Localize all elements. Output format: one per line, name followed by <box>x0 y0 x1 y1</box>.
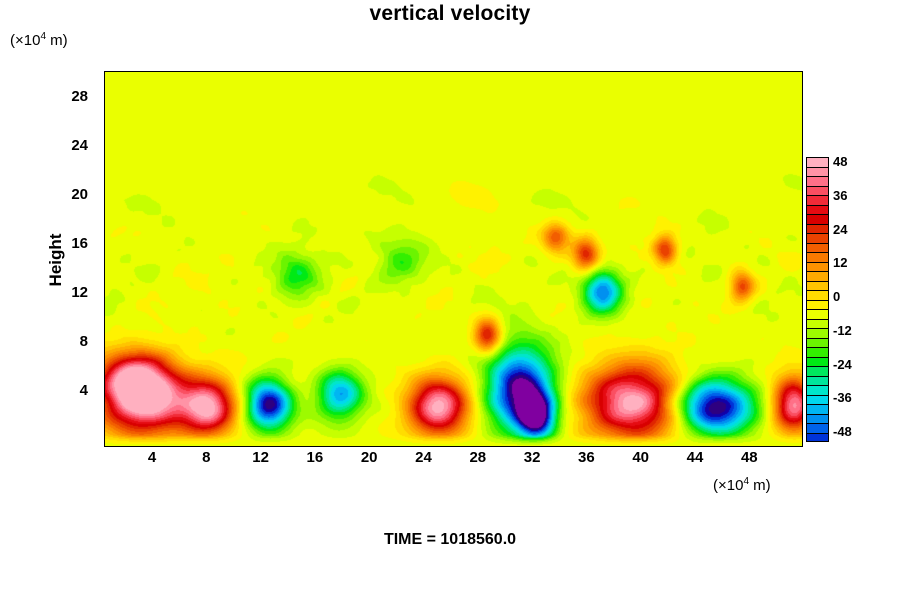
colorbar-band <box>807 348 828 358</box>
x-tick-4: 4 <box>132 449 172 466</box>
y-tick-4: 4 <box>48 382 88 399</box>
y-axis-unit-label: (×104 m) <box>10 31 68 49</box>
colorbar-label-0: 0 <box>833 289 879 304</box>
colorbar-label-24: 24 <box>833 222 879 237</box>
x-tick-32: 32 <box>512 449 552 466</box>
colorbar-band <box>807 434 828 443</box>
y-unit-prefix: (×10 <box>10 32 40 49</box>
colorbar-label-12: 12 <box>833 255 879 270</box>
colorbar-label-48: 48 <box>833 154 879 169</box>
y-unit-suffix: m) <box>46 32 68 49</box>
y-tick-28: 28 <box>48 88 88 105</box>
colorbar-band <box>807 415 828 425</box>
y-axis-title: Height <box>46 200 66 320</box>
x-tick-20: 20 <box>349 449 389 466</box>
colorbar-band <box>807 272 828 282</box>
x-tick-44: 44 <box>675 449 715 466</box>
x-tick-40: 40 <box>621 449 661 466</box>
x-tick-24: 24 <box>404 449 444 466</box>
colorbar-band <box>807 339 828 349</box>
colorbar-band <box>807 206 828 216</box>
colorbar-label-neg36: -36 <box>833 390 879 405</box>
colorbar-band <box>807 215 828 225</box>
colorbar-band <box>807 301 828 311</box>
colorbar-band <box>807 291 828 301</box>
x-tick-12: 12 <box>241 449 281 466</box>
colorbar-label-neg48: -48 <box>833 424 879 439</box>
colorbar-band <box>807 234 828 244</box>
colorbar <box>806 157 829 442</box>
colorbar-band <box>807 358 828 368</box>
x-tick-28: 28 <box>458 449 498 466</box>
x-unit-suffix: m) <box>749 477 771 494</box>
x-axis-unit-label: (×104 m) <box>713 476 771 494</box>
x-tick-16: 16 <box>295 449 335 466</box>
colorbar-band <box>807 177 828 187</box>
colorbar-band <box>807 187 828 197</box>
colorbar-band <box>807 168 828 178</box>
colorbar-label-neg24: -24 <box>833 357 879 372</box>
x-tick-48: 48 <box>729 449 769 466</box>
colorbar-band <box>807 244 828 254</box>
colorbar-band <box>807 396 828 406</box>
colorbar-band <box>807 263 828 273</box>
y-tick-24: 24 <box>48 137 88 154</box>
colorbar-band <box>807 158 828 168</box>
colorbar-label-neg12: -12 <box>833 323 879 338</box>
x-tick-8: 8 <box>186 449 226 466</box>
y-tick-20: 20 <box>48 186 88 203</box>
colorbar-band <box>807 310 828 320</box>
contour-plot-area <box>104 71 803 447</box>
y-tick-8: 8 <box>48 333 88 350</box>
colorbar-band <box>807 329 828 339</box>
colorbar-label-36: 36 <box>833 188 879 203</box>
colorbar-band <box>807 282 828 292</box>
y-tick-12: 12 <box>48 284 88 301</box>
vertical-velocity-field <box>105 72 802 446</box>
colorbar-band <box>807 405 828 415</box>
colorbar-band <box>807 377 828 387</box>
time-annotation: TIME = 1018560.0 <box>0 531 900 549</box>
colorbar-band <box>807 320 828 330</box>
page-title: vertical velocity <box>0 2 900 26</box>
colorbar-band <box>807 196 828 206</box>
colorbar-band <box>807 367 828 377</box>
x-tick-36: 36 <box>566 449 606 466</box>
colorbar-band <box>807 253 828 263</box>
x-unit-prefix: (×10 <box>713 477 743 494</box>
colorbar-band <box>807 386 828 396</box>
colorbar-band <box>807 225 828 235</box>
colorbar-band <box>807 424 828 434</box>
y-tick-16: 16 <box>48 235 88 252</box>
